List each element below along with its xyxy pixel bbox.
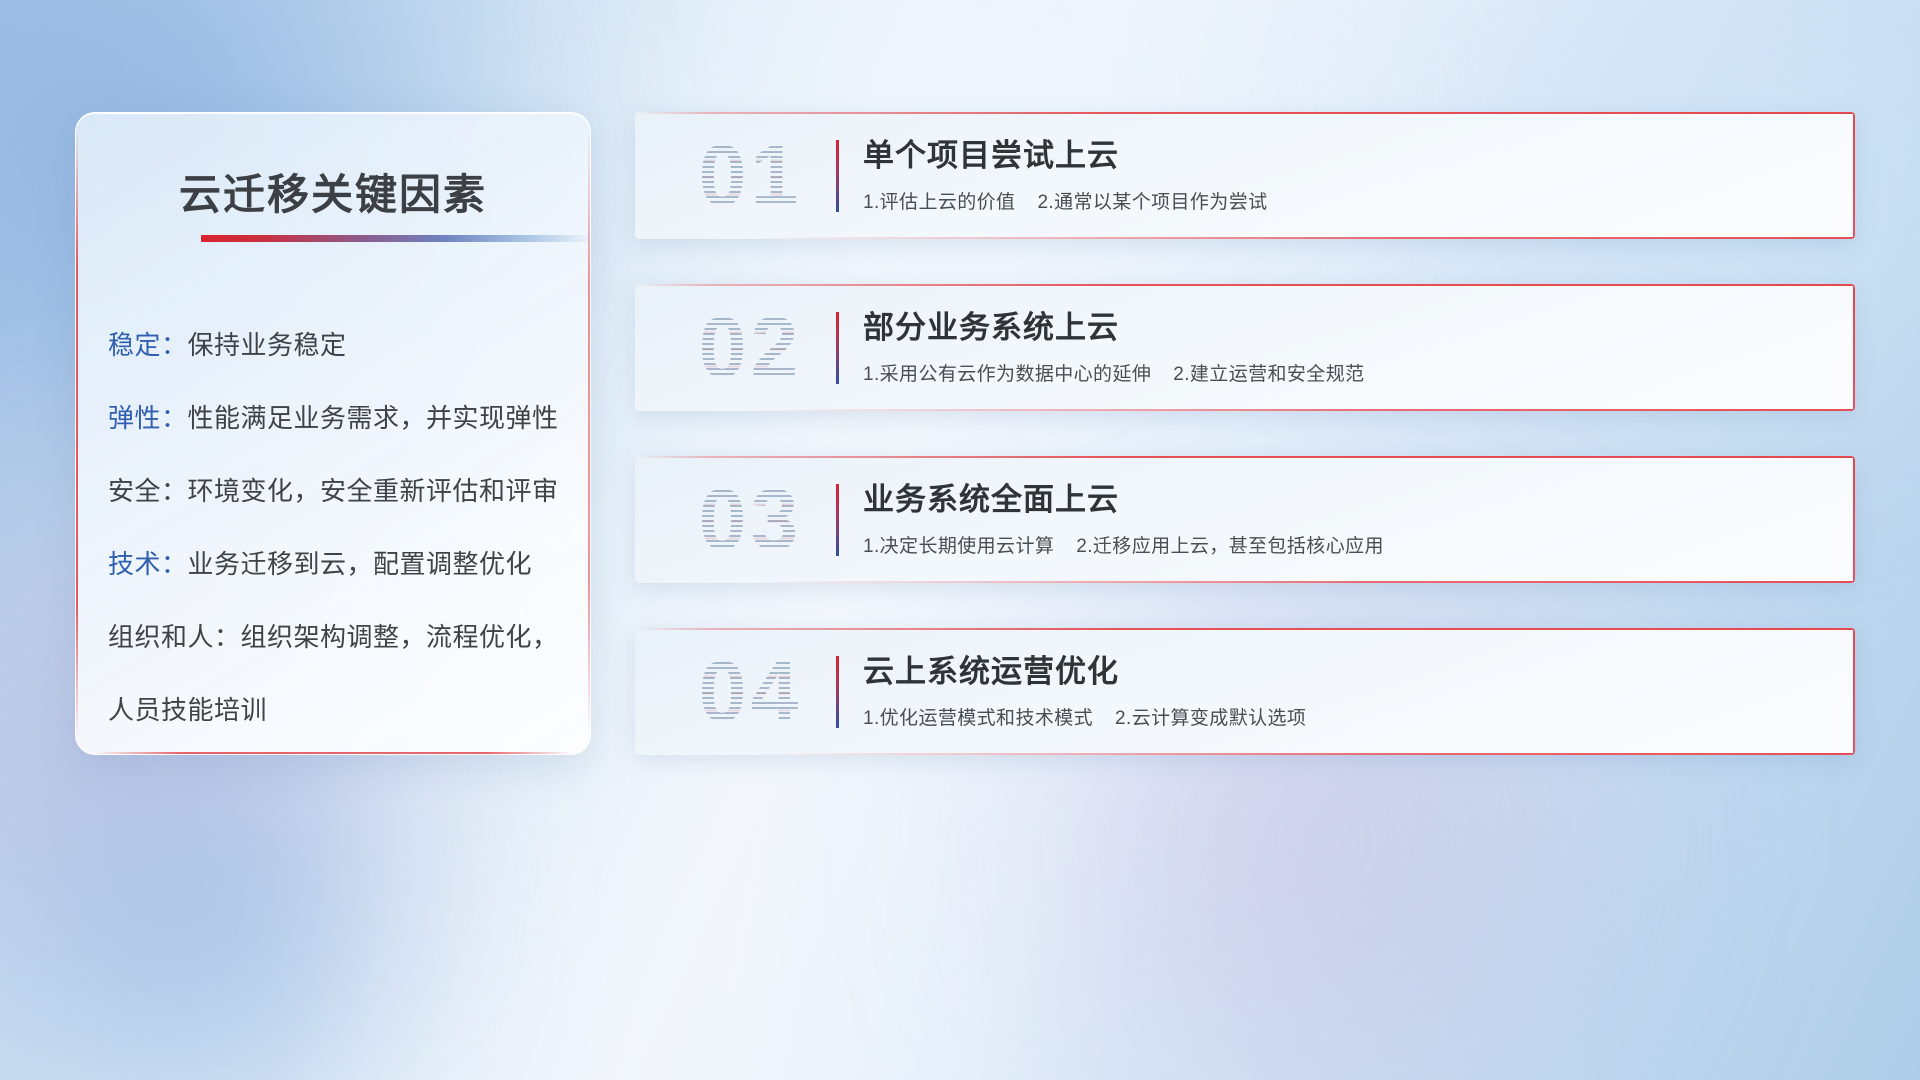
factor-row: 组织和人：组织架构调整，流程优化， — [108, 601, 568, 674]
factor-row: 弹性：性能满足业务需求，并实现弹性 — [108, 382, 568, 455]
card-text-block: 业务系统全面上云1.决定长期使用云计算2.迁移应用上云，甚至包括核心应用 — [863, 478, 1831, 558]
factor-value: 人员技能培训 — [108, 695, 267, 725]
card-description-item: 1.采用公有云作为数据中心的延伸 — [863, 364, 1151, 385]
card-description: 1.优化运营模式和技术模式2.云计算变成默认选项 — [863, 703, 1831, 730]
factor-value: 业务迁移到云，配置调整优化 — [188, 549, 533, 579]
panel-title: 云迁移关键因素 — [76, 161, 590, 222]
title-underline-accent — [201, 235, 591, 242]
card-bottom-accent — [757, 753, 1855, 755]
card-title: 单个项目尝试上云 — [863, 134, 1831, 178]
card-right-accent — [1853, 112, 1855, 239]
factor-key: 技术： — [108, 549, 188, 579]
card-bottom-accent — [757, 237, 1855, 239]
card-top-accent — [635, 456, 1855, 458]
stage-card[interactable]: 0101单个项目尝试上云1.评估上云的价值2.通常以某个项目作为尝试 — [635, 112, 1855, 239]
factor-row: 人员技能培训 — [108, 674, 568, 747]
factor-key: 稳定： — [108, 330, 188, 360]
panel-bottom-accent — [94, 752, 572, 754]
factor-value: 环境变化，安全重新评估和评审 — [188, 476, 559, 506]
factor-row: 安全：环境变化，安全重新评估和评审 — [108, 455, 568, 528]
card-description: 1.评估上云的价值2.通常以某个项目作为尝试 — [863, 187, 1831, 214]
factor-row: 稳定：保持业务稳定 — [108, 309, 568, 382]
card-number-watermark: 01 — [663, 126, 838, 226]
card-top-accent — [635, 628, 1855, 630]
card-text-block: 单个项目尝试上云1.评估上云的价值2.通常以某个项目作为尝试 — [863, 134, 1831, 214]
card-description-item: 1.评估上云的价值 — [863, 192, 1015, 213]
card-description-item: 2.迁移应用上云，甚至包括核心应用 — [1076, 536, 1384, 557]
card-number-watermark: 04 — [663, 642, 838, 742]
card-title: 部分业务系统上云 — [863, 306, 1831, 350]
factor-list: 稳定：保持业务稳定弹性：性能满足业务需求，并实现弹性安全：环境变化，安全重新评估… — [108, 309, 568, 747]
stage-card[interactable]: 0404云上系统运营优化1.优化运营模式和技术模式2.云计算变成默认选项 — [635, 628, 1855, 755]
factor-value: 保持业务稳定 — [188, 330, 347, 360]
card-text-block: 部分业务系统上云1.采用公有云作为数据中心的延伸2.建立运营和安全规范 — [863, 306, 1831, 386]
factor-value: 性能满足业务需求，并实现弹性 — [188, 403, 559, 433]
card-accent-bar — [836, 484, 839, 556]
stage-cards-list: 0101单个项目尝试上云1.评估上云的价值2.通常以某个项目作为尝试0202部分… — [635, 112, 1855, 800]
card-accent-bar — [836, 656, 839, 728]
card-bottom-accent — [757, 409, 1855, 411]
card-top-accent — [635, 284, 1855, 286]
card-right-accent — [1853, 628, 1855, 755]
slide-stage: 云迁移关键因素 稳定：保持业务稳定弹性：性能满足业务需求，并实现弹性安全：环境变… — [0, 0, 1920, 1080]
card-description-item: 2.通常以某个项目作为尝试 — [1037, 192, 1267, 213]
card-title: 业务系统全面上云 — [863, 478, 1831, 522]
card-top-accent — [635, 112, 1855, 114]
card-description-item: 2.建立运营和安全规范 — [1173, 364, 1364, 385]
key-factors-panel: 云迁移关键因素 稳定：保持业务稳定弹性：性能满足业务需求，并实现弹性安全：环境变… — [75, 112, 591, 755]
factor-value: 组织架构调整，流程优化， — [241, 622, 559, 652]
card-accent-bar — [836, 312, 839, 384]
card-number-watermark: 03 — [663, 470, 838, 570]
card-text-block: 云上系统运营优化1.优化运营模式和技术模式2.云计算变成默认选项 — [863, 650, 1831, 730]
card-accent-bar — [836, 140, 839, 212]
card-description-item: 2.云计算变成默认选项 — [1115, 708, 1306, 729]
card-description: 1.决定长期使用云计算2.迁移应用上云，甚至包括核心应用 — [863, 531, 1831, 558]
card-title: 云上系统运营优化 — [863, 650, 1831, 694]
factor-row: 技术：业务迁移到云，配置调整优化 — [108, 528, 568, 601]
card-bottom-accent — [757, 581, 1855, 583]
card-description-item: 1.优化运营模式和技术模式 — [863, 708, 1093, 729]
card-right-accent — [1853, 284, 1855, 411]
factor-key: 弹性： — [108, 403, 188, 433]
stage-card[interactable]: 0303业务系统全面上云1.决定长期使用云计算2.迁移应用上云，甚至包括核心应用 — [635, 456, 1855, 583]
factor-key: 安全： — [108, 476, 188, 506]
card-description-item: 1.决定长期使用云计算 — [863, 536, 1054, 557]
card-number-watermark: 02 — [663, 298, 838, 398]
card-description: 1.采用公有云作为数据中心的延伸2.建立运营和安全规范 — [863, 359, 1831, 386]
card-right-accent — [1853, 456, 1855, 583]
factor-key: 组织和人： — [108, 622, 241, 652]
stage-card[interactable]: 0202部分业务系统上云1.采用公有云作为数据中心的延伸2.建立运营和安全规范 — [635, 284, 1855, 411]
